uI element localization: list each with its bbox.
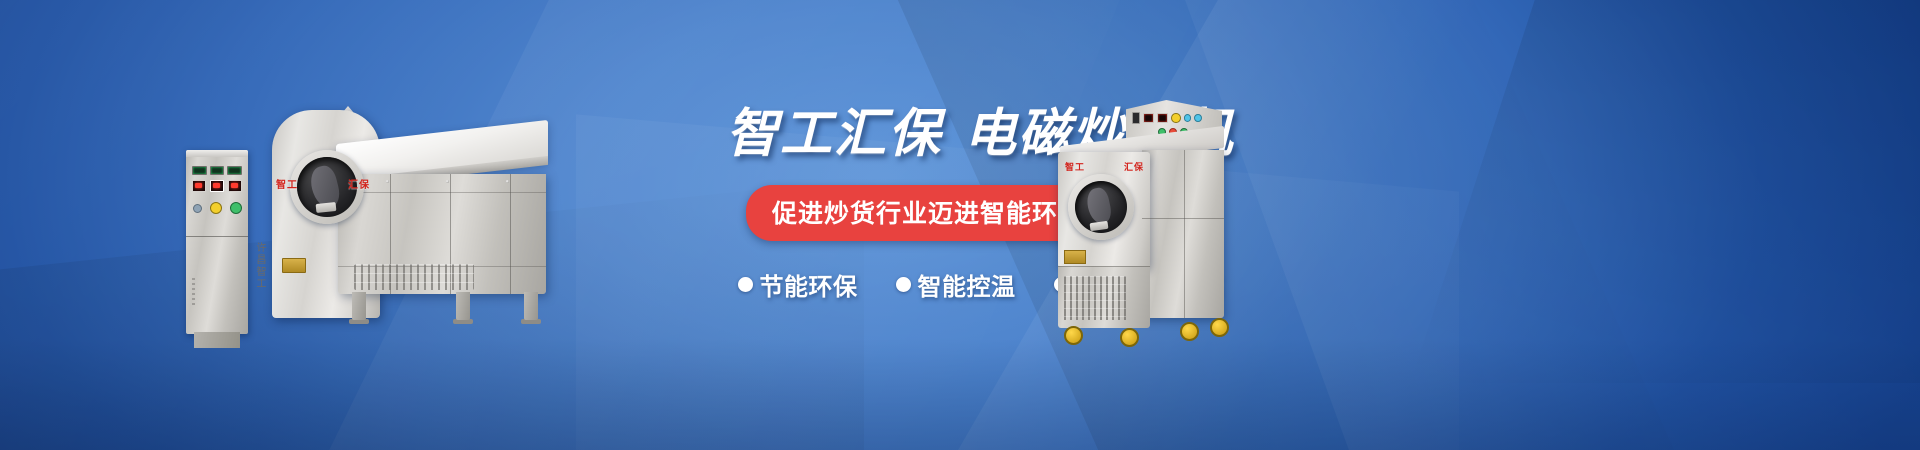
rivet xyxy=(386,180,389,183)
caster-wheel-icon xyxy=(1210,318,1229,337)
cabinet-seam xyxy=(186,236,248,237)
brand-mark-left-1: 智工 xyxy=(276,176,298,191)
brand-mark-right-2: 汇保 xyxy=(1124,160,1144,173)
digital-display-1 xyxy=(1143,113,1154,123)
digital-display-1 xyxy=(192,180,206,192)
right-panel-row-1 xyxy=(1132,112,1202,124)
machine-left-image: 许昌智工 智工 汇保 xyxy=(186,106,546,346)
control-cabinet xyxy=(186,150,248,334)
right-vent-grille-overlay xyxy=(1064,276,1126,320)
caster-wheel-icon xyxy=(1180,322,1199,341)
right-machine-nameplate xyxy=(1064,250,1086,264)
power-indicator-icon xyxy=(230,202,242,214)
cabinet-vertical-text: 许昌智工 xyxy=(252,242,267,290)
machine-leg xyxy=(524,292,538,320)
right-seam-3 xyxy=(1184,150,1185,318)
selector-switch-icon xyxy=(193,204,202,213)
meter-display-1 xyxy=(192,166,207,175)
digital-display-2 xyxy=(210,180,224,192)
meter-row xyxy=(192,166,242,175)
right-seam-2 xyxy=(1058,266,1150,267)
cabinet-vent xyxy=(192,278,195,308)
right-drum-scoop xyxy=(1090,221,1109,231)
brand-mark-left-2: 汇保 xyxy=(348,176,370,191)
right-drum-paddle xyxy=(1084,186,1113,226)
body-vent-grille-overlay xyxy=(354,264,474,290)
right-machine-cabinet xyxy=(1142,150,1224,318)
cabinet-top-edge xyxy=(186,150,248,157)
product-banner: 许昌智工 智工 汇保 xyxy=(0,0,1920,450)
caster-wheel-icon xyxy=(1064,326,1083,345)
right-seam-1 xyxy=(1142,218,1224,219)
body-hline-1 xyxy=(338,192,546,193)
feature-item-1: 节能环保 xyxy=(738,267,858,302)
meter-display-2 xyxy=(210,166,225,175)
headline-brand: 智工汇保 xyxy=(726,105,942,163)
feature-label-1: 节能环保 xyxy=(760,267,858,302)
indicator-led-1 xyxy=(1184,114,1192,122)
right-drum-opening xyxy=(1068,174,1134,240)
knob-row xyxy=(192,202,242,214)
toggle-switch-icon xyxy=(1132,112,1140,124)
caster-wheel-icon xyxy=(1120,328,1139,347)
indicator-led-2 xyxy=(1194,114,1202,122)
machine-body xyxy=(338,174,546,294)
digital-display-3 xyxy=(228,180,242,192)
drum-scoop xyxy=(316,202,337,213)
digital-display-row xyxy=(192,180,242,192)
feature-label-2: 智能控温 xyxy=(918,267,1016,302)
rivet xyxy=(506,180,509,183)
machine-right-image: 智工 汇保 xyxy=(1040,100,1260,350)
bullet-dot-icon xyxy=(738,277,753,292)
feature-item-2: 智能控温 xyxy=(896,267,1016,302)
bullet-dot-icon xyxy=(896,277,911,292)
cabinet-control-panel xyxy=(192,166,242,222)
brand-mark-right-1: 智工 xyxy=(1065,160,1085,173)
rivet xyxy=(446,180,449,183)
cabinet-base xyxy=(194,332,240,348)
digital-display-2 xyxy=(1157,113,1168,123)
meter-display-3 xyxy=(227,166,242,175)
emergency-stop-knob-icon xyxy=(210,202,222,214)
machine-nameplate xyxy=(282,258,306,273)
facet-bottom-shade xyxy=(0,338,1920,450)
machine-leg xyxy=(352,292,366,320)
machine-leg xyxy=(456,292,470,320)
emergency-stop-knob-icon xyxy=(1171,113,1180,123)
